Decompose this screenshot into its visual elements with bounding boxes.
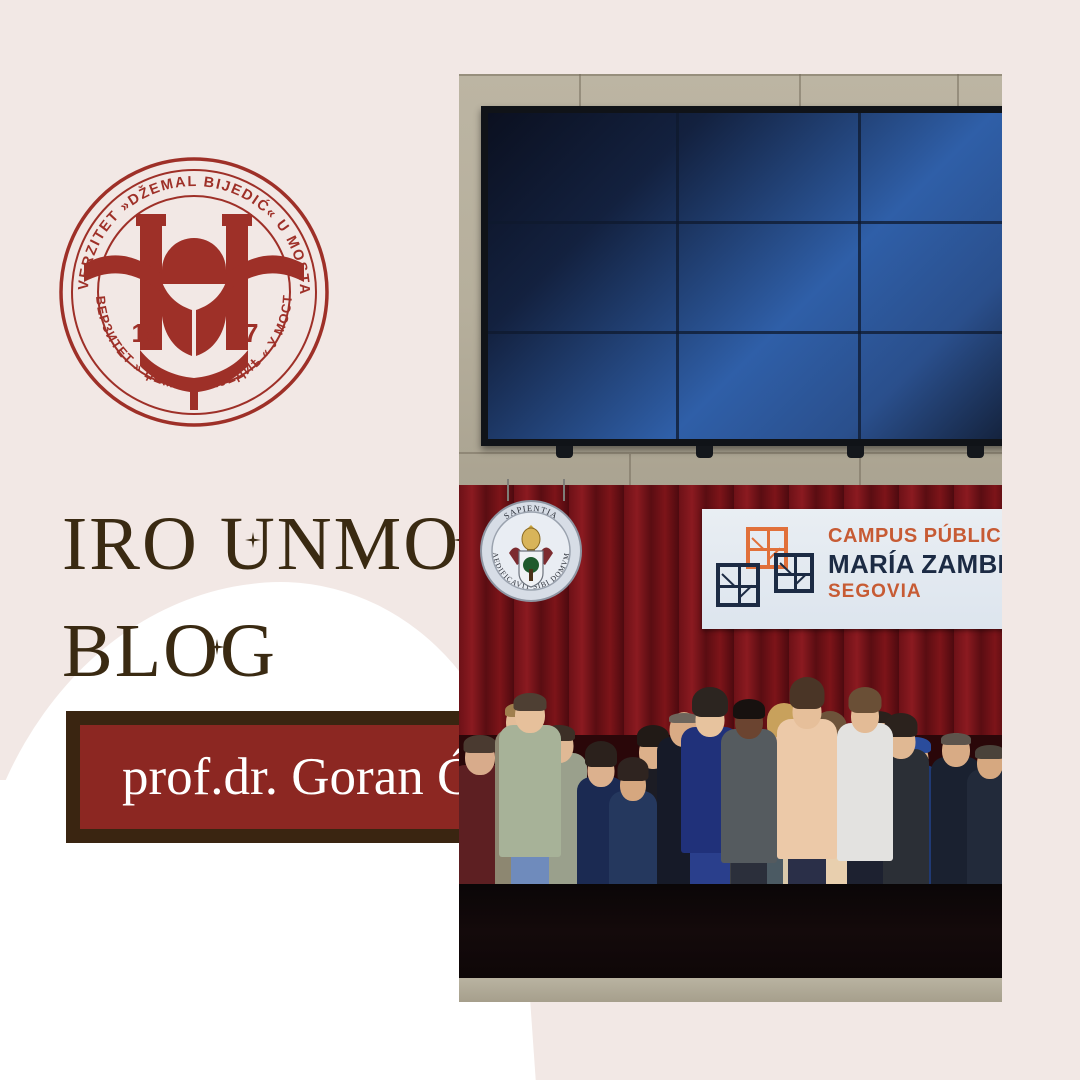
university-logo: UNIVERZITET »DŽEMAL BIJEDIĆ« U MOSTARU У… xyxy=(54,152,334,432)
group-photo: SAPIENTIA AEDIFICAVIT SIBI DOMVM xyxy=(459,74,1002,1002)
page-title: IRO UNMO BLOG xyxy=(62,496,482,701)
universidad-de-valladolid-seal: SAPIENTIA AEDIFICAVIT SIBI DOMVM xyxy=(479,499,583,603)
floor-strip xyxy=(459,978,1002,1002)
campus-banner-line-3: SEGOVIA xyxy=(828,582,1002,601)
campus-banner-line-2: MARÍA ZAMBR xyxy=(828,551,1002,577)
sparkle-icon xyxy=(209,639,225,655)
sparkle-icon xyxy=(245,532,261,548)
campus-banner-text: CAMPUS PÚBLICO MARÍA ZAMBR SEGOVIA xyxy=(828,526,1002,601)
concrete-wall xyxy=(459,74,1002,489)
logo-year-right: 77 xyxy=(230,318,259,348)
campus-banner-line-1: CAMPUS PÚBLICO xyxy=(828,526,1002,546)
headline-line-1: IRO UNMO xyxy=(62,502,460,586)
logo-year-left: 19 xyxy=(132,318,161,348)
stage-area: SAPIENTIA AEDIFICAVIT SIBI DOMVM xyxy=(459,485,1002,1002)
campus-banner: CAMPUS PÚBLICO MARÍA ZAMBR SEGOVIA xyxy=(702,509,1002,629)
headline-line-2: BLOG xyxy=(62,609,277,693)
campus-logo-icon xyxy=(716,527,820,611)
video-wall-display xyxy=(481,106,1002,446)
poster-canvas: UNIVERZITET »DŽEMAL BIJEDIĆ« U MOSTARU У… xyxy=(0,0,1080,1080)
